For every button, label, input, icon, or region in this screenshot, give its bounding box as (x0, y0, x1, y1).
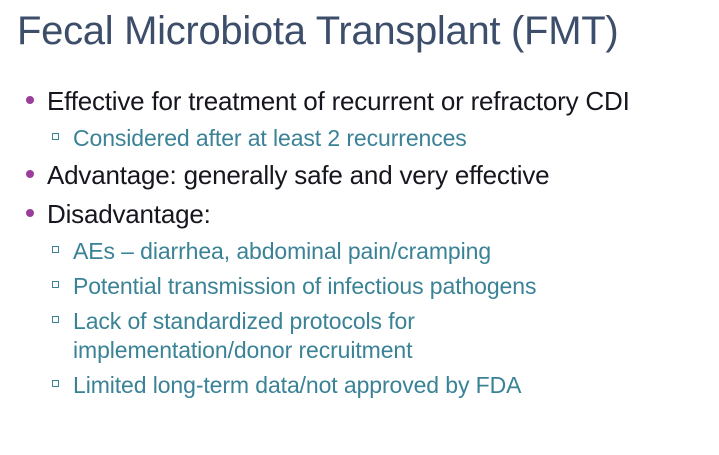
round-bullet-icon (26, 170, 34, 178)
hollow-square-bullet-icon (52, 246, 59, 253)
list-item: Potential transmission of infectious pat… (0, 269, 719, 304)
bullet-text: Considered after at least 2 recurrences (73, 124, 719, 153)
list-item: Advantage: generally safe and very effec… (0, 156, 719, 195)
page-title: Fecal Microbiota Transplant (FMT) (17, 6, 707, 56)
bullet-text: Lack of standardized protocols for imple… (73, 307, 543, 365)
list-item: Effective for treatment of recurrent or … (0, 82, 719, 121)
list-item: Considered after at least 2 recurrences (0, 121, 719, 156)
bullet-text: Disadvantage: (47, 199, 719, 230)
hollow-square-bullet-icon (52, 316, 59, 323)
list-item: AEs – diarrhea, abdominal pain/cramping (0, 234, 719, 269)
bullet-text: Effective for treatment of recurrent or … (47, 86, 719, 117)
round-bullet-icon (26, 209, 34, 217)
bullet-text: Limited long-term data/not approved by F… (73, 371, 719, 400)
list-item: Disadvantage: (0, 195, 719, 234)
round-bullet-icon (26, 96, 34, 104)
bullet-text: Potential transmission of infectious pat… (73, 272, 719, 301)
list-item: Limited long-term data/not approved by F… (0, 368, 719, 403)
list-item: Lack of standardized protocols for imple… (0, 304, 719, 368)
hollow-square-bullet-icon (52, 380, 59, 387)
slide-canvas: Fecal Microbiota Transplant (FMT) Effect… (0, 0, 719, 455)
hollow-square-bullet-icon (52, 133, 59, 140)
hollow-square-bullet-icon (52, 281, 59, 288)
bullet-text: AEs – diarrhea, abdominal pain/cramping (73, 237, 719, 266)
bullet-text: Advantage: generally safe and very effec… (47, 160, 719, 191)
slide-bullet-list: Effective for treatment of recurrent or … (0, 82, 719, 403)
